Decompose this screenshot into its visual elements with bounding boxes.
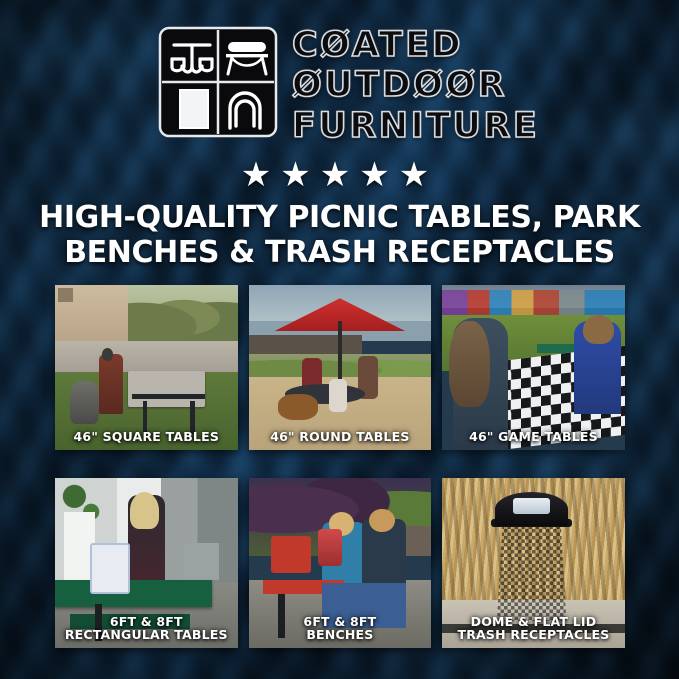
caption-line: 6FT & 8FT [249,615,432,628]
tile-caption: 46" ROUND TABLES [249,430,432,443]
caption-line: 6FT & 8FT [55,615,238,628]
product-tile-round-tables[interactable]: 46" ROUND TABLES [249,285,432,450]
product-tile-game-tables[interactable]: 46" GAME TABLES [442,285,625,450]
square-tables-photo [55,285,238,450]
furniture-grid-logo-icon [158,26,278,138]
caption-line: 46" ROUND TABLES [249,430,432,443]
product-tile-benches[interactable]: 6FT & 8FT BENCHES [249,478,432,648]
headline-line-2: BENCHES & TRASH RECEPTACLES [0,236,679,269]
tile-caption: 46" GAME TABLES [442,430,625,443]
brand-logo[interactable]: CØATED ØUTDØØR FURNITURE [158,26,539,143]
brand-wordmark: CØATED ØUTDØØR FURNITURE [292,26,539,143]
advertisement-banner: CØATED ØUTDØØR FURNITURE ★★★★★ HIGH-QUAL… [0,0,679,679]
product-grid-row-1: 46" SQUARE TABLES [55,285,625,450]
product-tile-square-tables[interactable]: 46" SQUARE TABLES [55,285,238,450]
product-tile-rectangular-tables[interactable]: 6FT & 8FT RECTANGULAR TABLES [55,478,238,648]
brand-name-line-2: ØUTDØØR [292,68,539,102]
tile-caption: 6FT & 8FT RECTANGULAR TABLES [55,615,238,642]
headline: HIGH-QUALITY PICNIC TABLES, PARK BENCHES… [0,201,679,269]
caption-line: BENCHES [249,628,432,641]
round-tables-photo [249,285,432,450]
product-grid-row-2: 6FT & 8FT RECTANGULAR TABLES [55,478,625,648]
caption-line: 46" GAME TABLES [442,430,625,443]
caption-line: TRASH RECEPTACLES [442,628,625,641]
star-rating: ★★★★★ [0,158,679,192]
brand-name-line-1: CØATED [292,28,539,62]
tile-caption: 6FT & 8FT BENCHES [249,615,432,642]
caption-line: 46" SQUARE TABLES [55,430,238,443]
game-tables-photo [442,285,625,450]
tile-caption: 46" SQUARE TABLES [55,430,238,443]
tile-caption: DOME & FLAT LID TRASH RECEPTACLES [442,615,625,642]
headline-line-1: HIGH-QUALITY PICNIC TABLES, PARK [0,201,679,234]
product-grid: 46" SQUARE TABLES [55,285,625,648]
caption-line: DOME & FLAT LID [442,615,625,628]
brand-name-line-3: FURNITURE [292,109,539,143]
caption-line: RECTANGULAR TABLES [55,628,238,641]
product-tile-trash-receptacles[interactable]: DOME & FLAT LID TRASH RECEPTACLES [442,478,625,648]
